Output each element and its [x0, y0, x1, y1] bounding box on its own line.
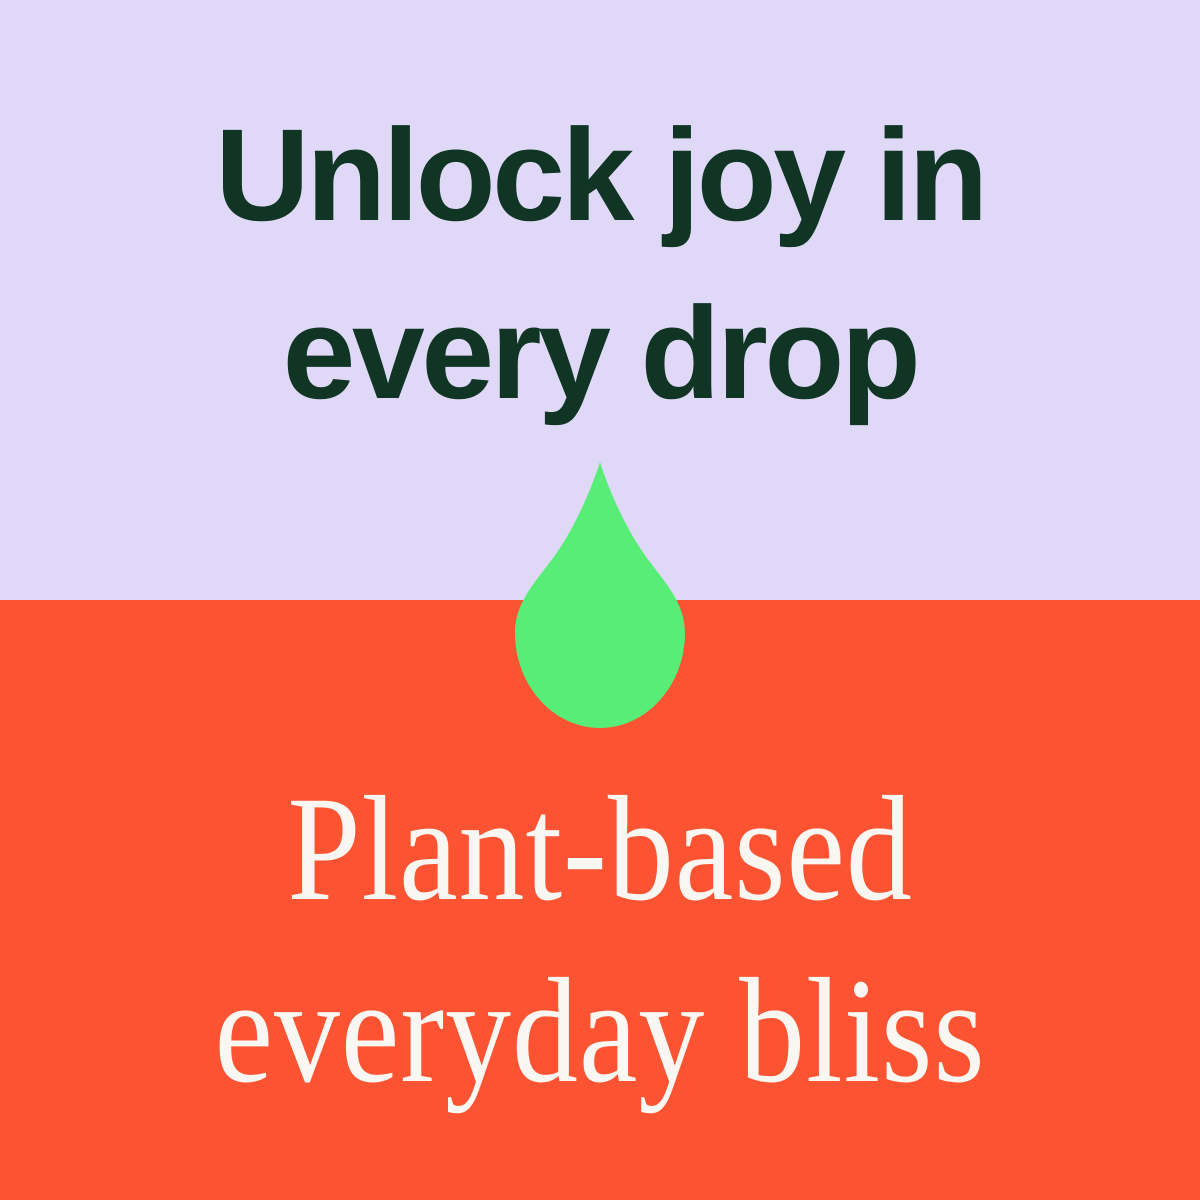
subhead: Plant-based everyday bliss — [72, 758, 1128, 1122]
subhead-line-2: everyday bliss — [72, 940, 1128, 1122]
droplet-shape — [515, 462, 685, 728]
promo-poster: Unlock joy in every drop Plant-based eve… — [0, 0, 1200, 1200]
water-droplet-icon — [505, 462, 695, 728]
headline-line-2: every drop — [0, 264, 1200, 442]
subhead-line-1: Plant-based — [72, 758, 1128, 940]
droplet-graphic — [505, 462, 695, 728]
headline: Unlock joy in every drop — [0, 86, 1200, 442]
headline-line-1: Unlock joy in — [0, 86, 1200, 264]
